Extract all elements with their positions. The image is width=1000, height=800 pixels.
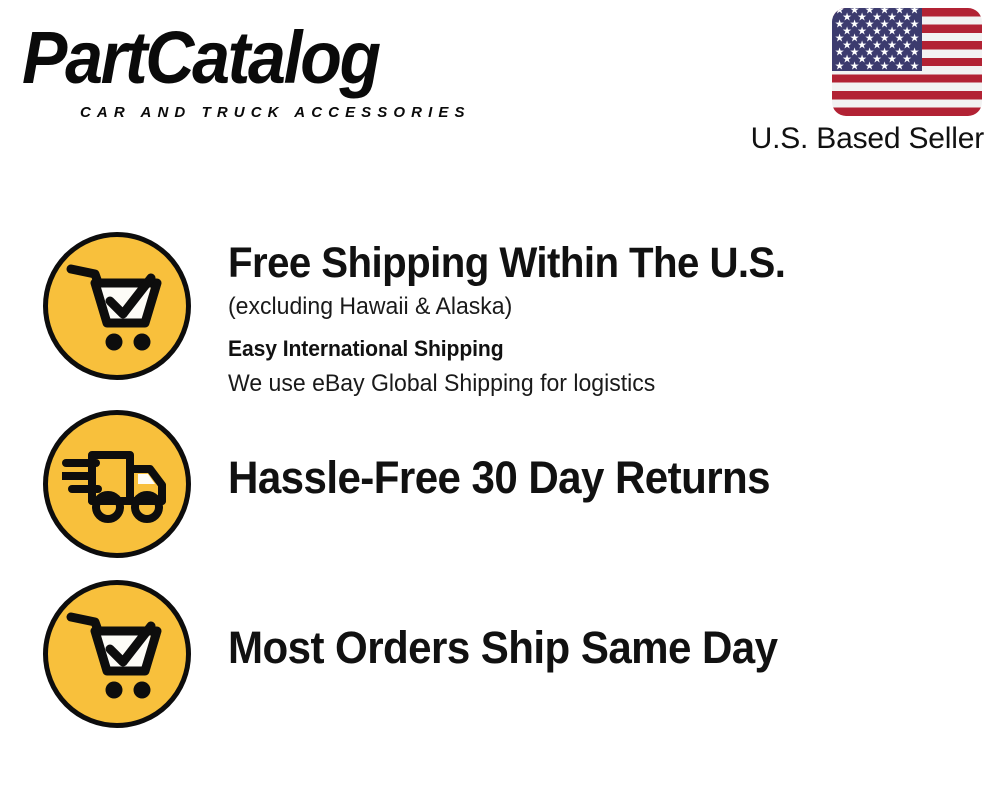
shopping-cart-check-icon bbox=[43, 232, 191, 380]
feature-list: Free Shipping Within The U.S. (excluding… bbox=[0, 232, 1000, 740]
us-flag-icon: ★★★★★★★★★★★★★★★★★★★★★★★★★★★★★★★★★★★★★★★★… bbox=[832, 8, 982, 116]
feature-subline: (excluding Hawaii & Alaska) bbox=[228, 290, 969, 323]
us-based-seller-badge: ★★★★★★★★★★★★★★★★★★★★★★★★★★★★★★★★★★★★★★★★… bbox=[826, 8, 986, 116]
feature-headline: Most Orders Ship Same Day bbox=[228, 622, 950, 674]
delivery-truck-icon bbox=[43, 410, 191, 558]
feature-text-returns: Hassle-Free 30 Day Returns bbox=[191, 410, 1000, 504]
promo-banner: PartCatalog CAR AND TRUCK ACCESSORIES ★★… bbox=[0, 0, 1000, 800]
feature-sub-heading: Easy International Shipping bbox=[228, 333, 969, 365]
feature-headline: Free Shipping Within The U.S. bbox=[228, 238, 950, 288]
feature-row-returns: Hassle-Free 30 Day Returns bbox=[0, 410, 1000, 580]
flag-star: ★ bbox=[865, 62, 875, 73]
flag-stars: ★★★★★★★★★★★★★★★★★★★★★★★★★★★★★★★★★★★★★★★★… bbox=[832, 8, 922, 71]
flag-star: ★ bbox=[895, 62, 905, 73]
shopping-cart-check-icon bbox=[43, 580, 191, 728]
flag-star: ★ bbox=[910, 62, 920, 73]
feature-text-same-day-shipping: Most Orders Ship Same Day bbox=[191, 580, 1000, 674]
brand-tagline: CAR AND TRUCK ACCESSORIES bbox=[80, 104, 471, 121]
brand-wordmark: PartCatalog bbox=[22, 14, 379, 102]
flag-star: ★ bbox=[850, 62, 860, 73]
flag-star: ★ bbox=[835, 62, 845, 73]
feature-row-free-shipping: Free Shipping Within The U.S. (excluding… bbox=[0, 232, 1000, 410]
feature-text-free-shipping: Free Shipping Within The U.S. (excluding… bbox=[191, 232, 1000, 400]
feature-headline: Hassle-Free 30 Day Returns bbox=[228, 452, 950, 504]
us-based-seller-label: U.S. Based Seller bbox=[751, 120, 984, 158]
flag-star: ★ bbox=[880, 62, 890, 73]
banner-header: PartCatalog CAR AND TRUCK ACCESSORIES ★★… bbox=[0, 0, 1000, 170]
feature-row-same-day-shipping: Most Orders Ship Same Day bbox=[0, 580, 1000, 740]
feature-sub-detail: We use eBay Global Shipping for logistic… bbox=[228, 367, 969, 400]
brand-logo: PartCatalog CAR AND TRUCK ACCESSORIES bbox=[22, 18, 492, 118]
